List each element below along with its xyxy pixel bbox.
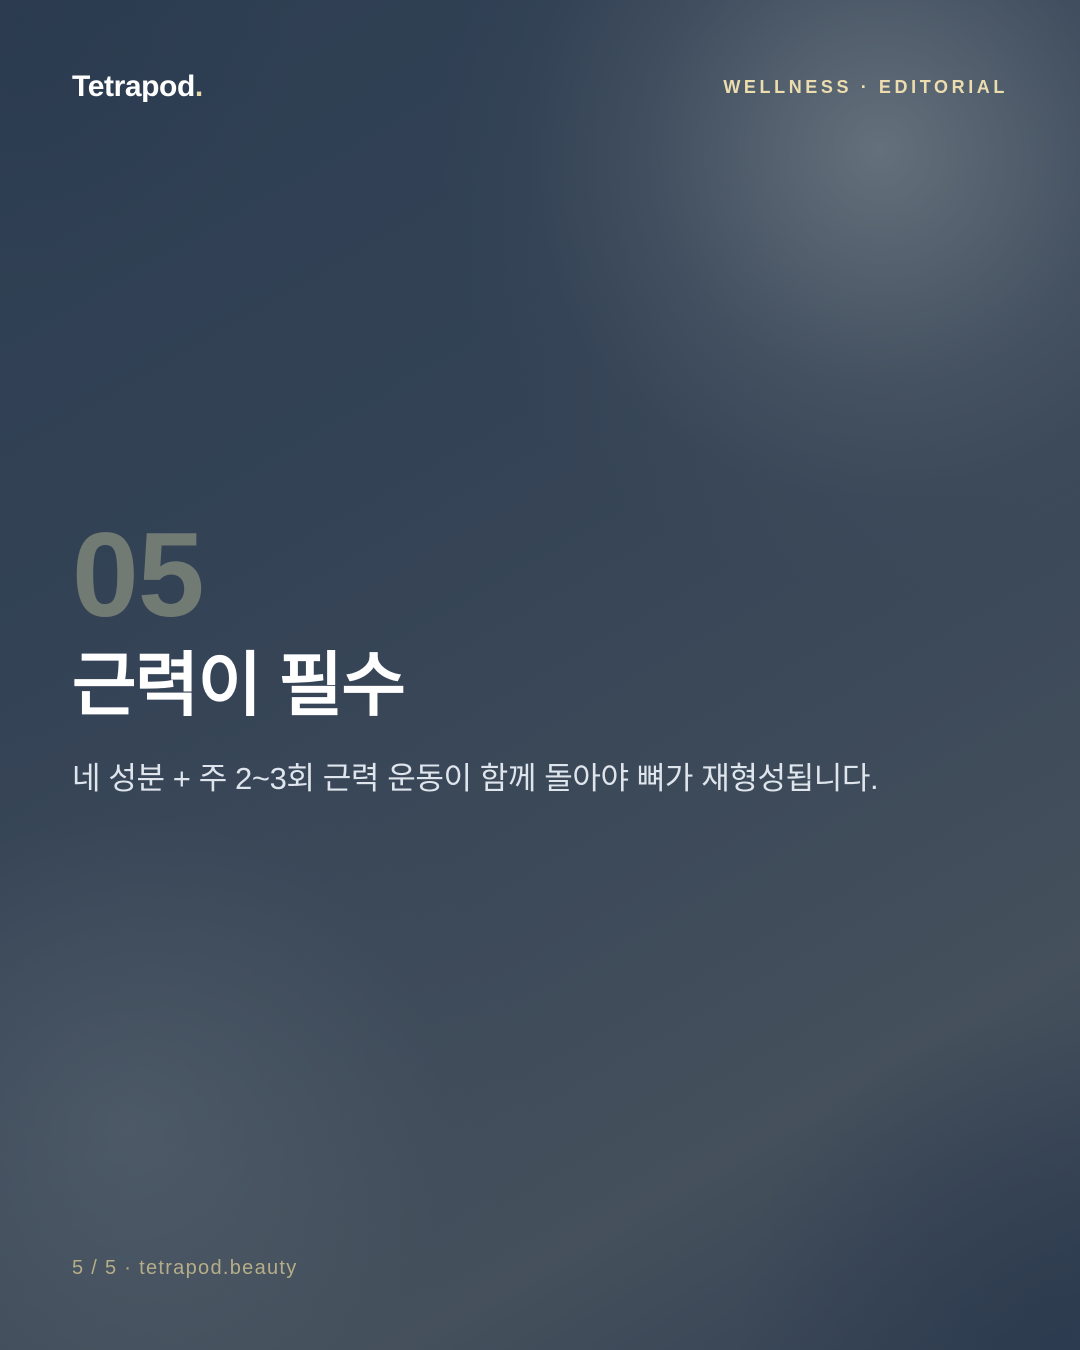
- brand-logo-text: Tetrapod: [72, 70, 195, 103]
- editorial-slide: Tetrapod. WELLNESS · EDITORIAL 05 근력이 필수…: [0, 0, 1080, 1350]
- category-eyebrow: WELLNESS · EDITORIAL: [723, 78, 1008, 96]
- slide-header: Tetrapod. WELLNESS · EDITORIAL: [72, 72, 1008, 102]
- slide-content: 05 근력이 필수 네 성분 + 주 2~3회 근력 운동이 함께 돌아야 뼈가…: [72, 520, 1008, 802]
- step-number: 05: [72, 520, 1008, 630]
- brand-logo: Tetrapod.: [72, 72, 203, 102]
- footer-pagination-handle: 5 / 5 · tetrapod.beauty: [72, 1258, 298, 1278]
- page-title: 근력이 필수: [72, 648, 1008, 722]
- brand-logo-dot: .: [195, 70, 203, 103]
- subheadline: 네 성분 + 주 2~3회 근력 운동이 함께 돌아야 뼈가 재형성됩니다.: [72, 757, 992, 802]
- slide-footer: 5 / 5 · tetrapod.beauty: [72, 1258, 298, 1278]
